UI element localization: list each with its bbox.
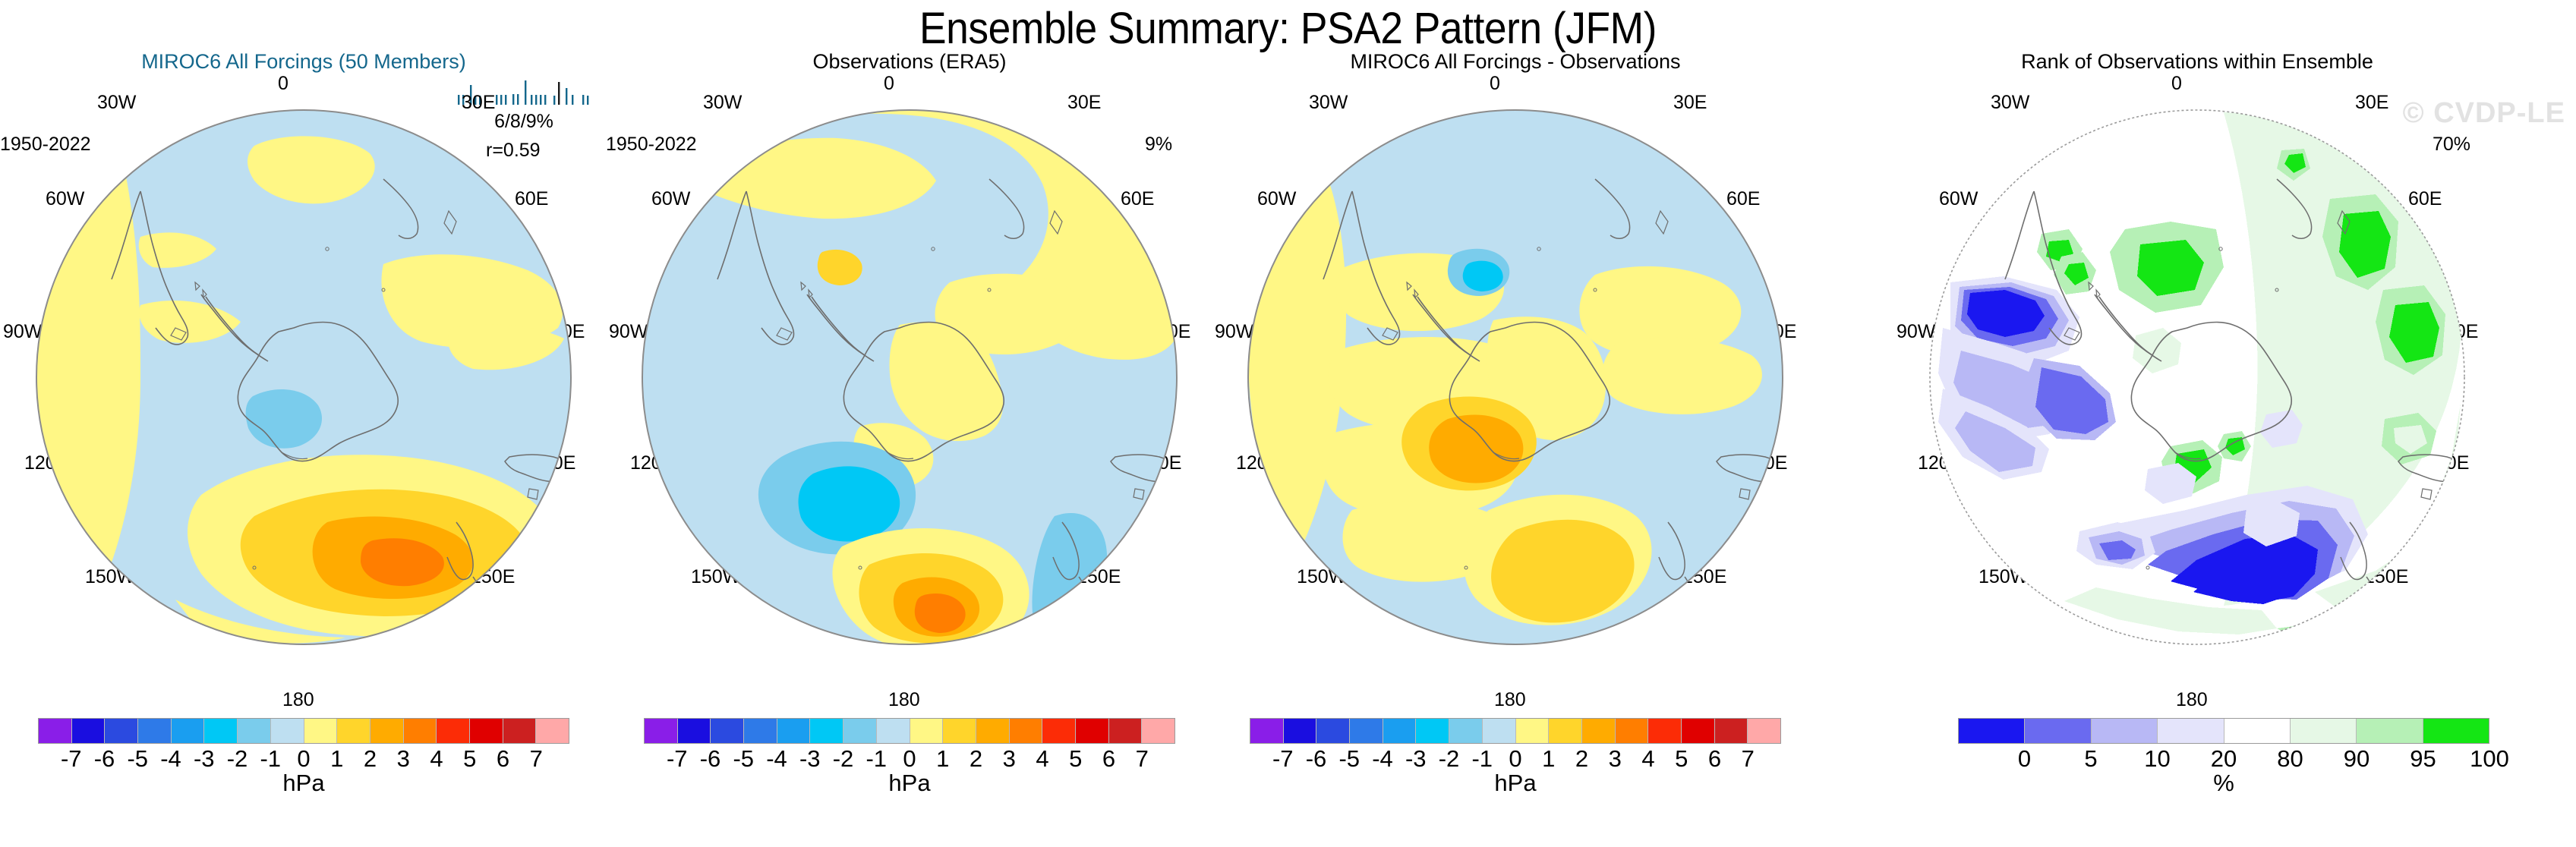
- colorbar-swatch: [1010, 719, 1043, 743]
- colorbar-tick-label: -5: [733, 745, 754, 773]
- lon-label-0: 0: [2171, 73, 2182, 95]
- colorbar-swatch: [1250, 719, 1284, 743]
- colorbar-tick-label: 5: [2084, 745, 2097, 773]
- colorbar-tick-label: -5: [127, 745, 148, 773]
- colorbar-tick-label: 0: [1509, 745, 1521, 773]
- colorbar-swatch: [1648, 719, 1682, 743]
- colorbar-obs-strip: [644, 718, 1175, 744]
- colorbar-tick-label: -4: [766, 745, 787, 773]
- colorbar-swatch: [910, 719, 944, 743]
- figure-canvas: Ensemble Summary: PSA2 Pattern (JFM): [0, 0, 2576, 847]
- colorbar-swatch: [1383, 719, 1417, 743]
- colorbar-swatch: [72, 719, 106, 743]
- colorbar-swatch: [843, 719, 877, 743]
- colorbar-tick-label: 90: [2344, 745, 2369, 773]
- colorbar-swatch: [2092, 719, 2158, 743]
- map-obs-svg: [632, 100, 1187, 654]
- colorbar-tick-label: 6: [1102, 745, 1115, 773]
- colorbar-swatch: [1616, 719, 1649, 743]
- colorbar-tick-label: 4: [430, 745, 443, 773]
- colorbar-tick-label: 5: [1069, 745, 1082, 773]
- map-rank: [1920, 100, 2474, 654]
- colorbar-swatch: [2291, 719, 2357, 743]
- panel-diff-title: MIROC6 All Forcings - Observations: [1212, 50, 1819, 74]
- colorbar-swatch: [1483, 719, 1516, 743]
- colorbar-tick-label: -6: [700, 745, 721, 773]
- colorbar-swatch: [503, 719, 537, 743]
- colorbar-tick-label: -1: [1471, 745, 1493, 773]
- colorbar-tick-label: -2: [833, 745, 854, 773]
- colorbar-swatch: [105, 719, 138, 743]
- colorbar-swatch: [2025, 719, 2091, 743]
- colorbar-swatch: [877, 719, 910, 743]
- colorbar-swatch: [711, 719, 744, 743]
- lon-label-180: 180: [888, 689, 920, 711]
- colorbar-tick-label: 7: [1136, 745, 1149, 773]
- colorbar-tick-label: -2: [1439, 745, 1460, 773]
- colorbar-tick-label: -5: [1338, 745, 1360, 773]
- colorbar-swatch: [943, 719, 976, 743]
- colorbar-swatch: [976, 719, 1010, 743]
- map-diff: [1238, 100, 1792, 654]
- map-rank-svg: [1920, 100, 2474, 654]
- colorbar-tick-label: 10: [2144, 745, 2170, 773]
- colorbar-swatch: [1682, 719, 1715, 743]
- colorbar-tick-label: 3: [1609, 745, 1622, 773]
- colorbar-model: -7-6-5-4-3-2-101234567 hPa: [38, 718, 569, 797]
- lon-label-0: 0: [884, 73, 894, 95]
- colorbar-swatch: [1416, 719, 1449, 743]
- colorbar-swatch: [404, 719, 437, 743]
- colorbar-rank-strip: [1958, 718, 2489, 744]
- map-model: [27, 100, 581, 654]
- colorbar-tick-label: -6: [1306, 745, 1327, 773]
- figure-title: Ensemble Summary: PSA2 Pattern (JFM): [103, 3, 2474, 54]
- colorbar-tick-label: 7: [530, 745, 543, 773]
- colorbar-swatch: [271, 719, 304, 743]
- colorbar-tick-label: 3: [1003, 745, 1016, 773]
- colorbar-swatch: [744, 719, 777, 743]
- colorbar-obs-unit: hPa: [644, 770, 1175, 797]
- colorbar-tick-label: 20: [2211, 745, 2237, 773]
- colorbar-rank: 051020809095100 %: [1958, 718, 2489, 797]
- panel-obs-title: Observations (ERA5): [606, 50, 1213, 74]
- colorbar-tick-label: 0: [2018, 745, 2031, 773]
- colorbar-swatch: [370, 719, 404, 743]
- colorbar-swatch: [304, 719, 338, 743]
- histogram-member-tick: [587, 96, 588, 105]
- colorbar-tick-label: -7: [61, 745, 82, 773]
- colorbar-swatch: [810, 719, 843, 743]
- panel-rank-title: Rank of Observations within Ensemble: [1893, 50, 2501, 74]
- colorbar-swatch: [337, 719, 370, 743]
- lon-label-0: 0: [278, 73, 288, 95]
- colorbar-tick-label: 3: [397, 745, 410, 773]
- colorbar-tick-label: -3: [1405, 745, 1427, 773]
- colorbar-tick-label: -1: [865, 745, 887, 773]
- colorbar-swatch: [1076, 719, 1109, 743]
- colorbar-tick-label: 0: [297, 745, 310, 773]
- colorbar-tick-label: 5: [1675, 745, 1688, 773]
- colorbar-swatch: [2423, 719, 2489, 743]
- colorbar-tick-label: -2: [227, 745, 248, 773]
- colorbar-tick-label: 0: [903, 745, 916, 773]
- colorbar-tick-label: 4: [1641, 745, 1654, 773]
- colorbar-swatch: [1959, 719, 2025, 743]
- colorbar-tick-label: 6: [1708, 745, 1721, 773]
- panel-rank: Rank of Observations within Ensemble © C…: [1818, 50, 2576, 839]
- map-diff-svg: [1238, 100, 1792, 654]
- colorbar-swatch: [645, 719, 678, 743]
- colorbar-swatch: [238, 719, 271, 743]
- panel-obs: Observations (ERA5) 1950-2022 9% 0 30W 3…: [606, 50, 1213, 839]
- colorbar-swatch: [1748, 719, 1780, 743]
- colorbar-diff-ticks: -7-6-5-4-3-2-101234567: [1250, 745, 1781, 771]
- lon-label-180: 180: [1494, 689, 1526, 711]
- lon-label-0: 0: [1490, 73, 1500, 95]
- colorbar-model-strip: [38, 718, 569, 744]
- colorbar-tick-label: 7: [1742, 745, 1755, 773]
- colorbar-rank-unit: %: [1958, 770, 2489, 797]
- colorbar-swatch: [2158, 719, 2224, 743]
- colorbar-swatch: [1449, 719, 1483, 743]
- colorbar-swatch: [1284, 719, 1317, 743]
- colorbar-swatch: [1316, 719, 1350, 743]
- colorbar-swatch: [2357, 719, 2423, 743]
- colorbar-tick-label: 1: [330, 745, 343, 773]
- colorbar-tick-label: -3: [194, 745, 215, 773]
- colorbar-tick-label: 2: [364, 745, 377, 773]
- colorbar-swatch: [204, 719, 238, 743]
- colorbar-tick-label: 1: [1542, 745, 1555, 773]
- panel-diff: MIROC6 All Forcings - Observations 0 30W…: [1212, 50, 1819, 839]
- colorbar-swatch: [1042, 719, 1076, 743]
- colorbar-tick-label: 2: [1575, 745, 1588, 773]
- colorbar-tick-label: 100: [2470, 745, 2509, 773]
- panel-model: MIROC6 All Forcings (50 Members) 6/8/9% …: [0, 50, 607, 839]
- map-model-svg: [27, 100, 581, 654]
- map-obs: [632, 100, 1187, 654]
- colorbar-tick-label: -6: [94, 745, 115, 773]
- colorbar-tick-label: 5: [463, 745, 476, 773]
- colorbar-tick-label: -4: [160, 745, 181, 773]
- colorbar-tick-label: 80: [2277, 745, 2303, 773]
- colorbar-tick-label: 4: [1036, 745, 1048, 773]
- colorbar-swatch: [470, 719, 503, 743]
- colorbar-swatch: [1549, 719, 1582, 743]
- panel-model-title: MIROC6 All Forcings (50 Members): [0, 50, 607, 74]
- colorbar-tick-label: -3: [799, 745, 821, 773]
- colorbar-diff: -7-6-5-4-3-2-101234567 hPa: [1250, 718, 1781, 797]
- colorbar-tick-label: 95: [2410, 745, 2436, 773]
- colorbar-swatch: [1350, 719, 1383, 743]
- colorbar-tick-label: -7: [1272, 745, 1294, 773]
- colorbar-obs: -7-6-5-4-3-2-101234567 hPa: [644, 718, 1175, 797]
- colorbar-tick-label: 1: [936, 745, 949, 773]
- colorbar-swatch: [1109, 719, 1143, 743]
- colorbar-model-unit: hPa: [38, 770, 569, 797]
- colorbar-swatch: [1582, 719, 1616, 743]
- colorbar-swatch: [1516, 719, 1550, 743]
- colorbar-rank-ticks: 051020809095100: [1958, 745, 2489, 771]
- lon-label-180: 180: [2176, 689, 2208, 711]
- colorbar-tick-label: 6: [497, 745, 509, 773]
- colorbar-swatch: [2224, 719, 2291, 743]
- colorbar-obs-ticks: -7-6-5-4-3-2-101234567: [644, 745, 1175, 771]
- histogram-member-tick: [582, 95, 584, 105]
- colorbar-swatch: [172, 719, 205, 743]
- colorbar-swatch: [138, 719, 172, 743]
- lon-label-180: 180: [282, 689, 314, 711]
- colorbar-swatch: [39, 719, 72, 743]
- colorbar-swatch: [777, 719, 811, 743]
- colorbar-tick-label: -7: [667, 745, 688, 773]
- colorbar-swatch: [1715, 719, 1748, 743]
- colorbar-swatch: [678, 719, 711, 743]
- colorbar-diff-unit: hPa: [1250, 770, 1781, 797]
- colorbar-tick-label: -4: [1372, 745, 1393, 773]
- colorbar-diff-strip: [1250, 718, 1781, 744]
- colorbar-tick-label: -1: [260, 745, 281, 773]
- colorbar-swatch: [536, 719, 569, 743]
- colorbar-swatch: [437, 719, 470, 743]
- colorbar-swatch: [1142, 719, 1174, 743]
- colorbar-model-ticks: -7-6-5-4-3-2-101234567: [38, 745, 569, 771]
- colorbar-tick-label: 2: [970, 745, 982, 773]
